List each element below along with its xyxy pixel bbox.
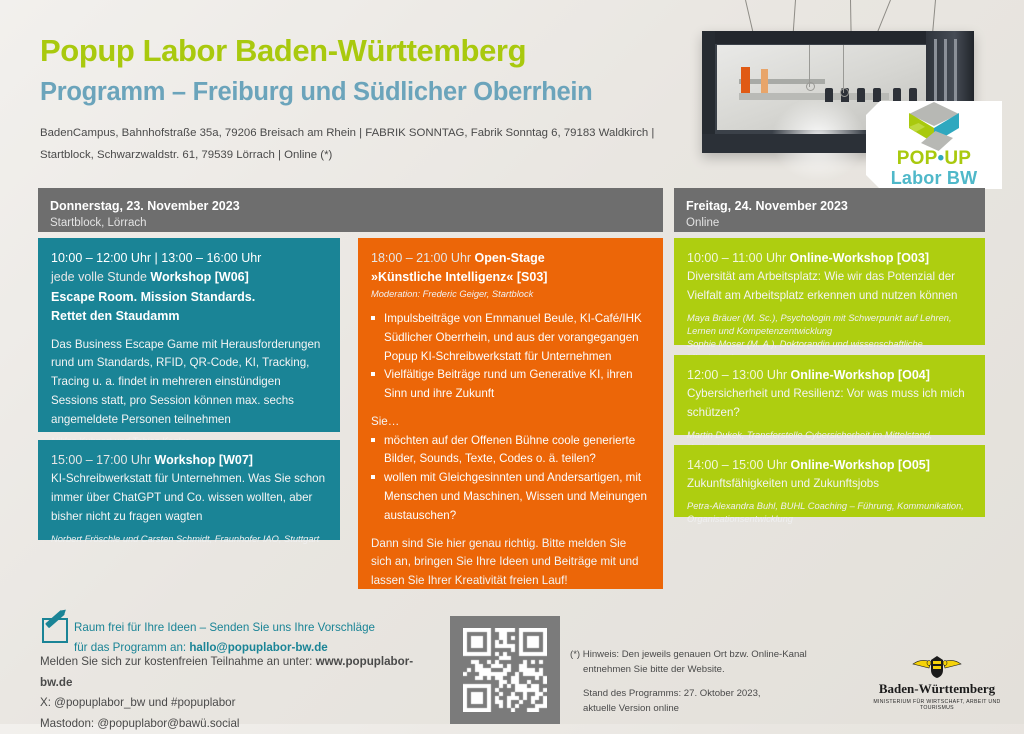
- logo-pop: POP: [897, 148, 938, 169]
- session-card-w06[interactable]: 10:00 – 12:00 Uhr | 13:00 – 16:00 Uhr je…: [38, 238, 340, 432]
- crest-icon: [907, 654, 967, 680]
- session-card-w07[interactable]: 15:00 – 17:00 Uhr Workshop [W07] KI-Schr…: [38, 440, 340, 540]
- contact-block: Melden Sie sich zur kostenfreien Teilnah…: [40, 652, 440, 734]
- session-closing: Dann sind Sie hier genau richtig. Bitte …: [371, 535, 650, 591]
- session-body: Cybersicherheit und Resilienz: Vor was m…: [687, 385, 972, 423]
- ministry-logo: Baden-Württemberg MINISTERIUM FÜR WIRTSC…: [862, 654, 1012, 711]
- session-body: Das Business Escape Game mit Herausforde…: [51, 336, 327, 430]
- popup-labor-logo: POP•UP Labor BW: [866, 101, 1002, 189]
- list-item: möchten auf der Offenen Bühne coole gene…: [371, 432, 650, 470]
- session-title-line-2: Rettet den Staudamm: [51, 307, 327, 326]
- session-body: Diversität am Arbeitsplatz: Wie wir das …: [687, 268, 972, 306]
- invite-line-1: Raum frei für Ihre Ideen – Senden Sie un…: [74, 618, 404, 638]
- session-time: 12:00 – 13:00 Uhr: [687, 368, 791, 382]
- session-speaker: Norbert Fröschle und Carsten Schmidt, Fr…: [51, 533, 327, 546]
- session-bullets-secondary: möchten auf der Offenen Bühne coole gene…: [371, 432, 650, 526]
- day-header-friday: Freitag, 24. November 2023 Online: [674, 188, 985, 232]
- session-label: Workshop [W07]: [155, 453, 253, 467]
- page-title: Popup Labor Baden-Württemberg: [40, 33, 526, 69]
- session-card-o03[interactable]: 10:00 – 11:00 Uhr Online-Workshop [O03] …: [674, 238, 985, 345]
- session-time: 15:00 – 17:00 Uhr: [51, 453, 155, 467]
- session-body: KI-Schreibwerkstatt für Unternehmen. Was…: [51, 470, 327, 526]
- session-speaker: Maya Bräuer (M. Sc.), Psychologin mit Sc…: [687, 312, 972, 325]
- session-card-s03[interactable]: 18:00 – 21:00 Uhr Open-Stage »Künstliche…: [358, 238, 663, 589]
- session-sie-intro: Sie…: [371, 413, 650, 432]
- hint-block: (*) Hinweis: Den jeweils genauen Ort bzw…: [570, 648, 820, 716]
- status-line-2: aktuelle Version online: [570, 702, 820, 717]
- day-location: Startblock, Lörrach: [50, 215, 651, 232]
- poster-root: Popup Labor Baden-Württemberg Programm –…: [0, 0, 1024, 724]
- session-label: Online-Workshop [O04]: [791, 368, 930, 382]
- day-date: Donnerstag, 23. November 2023: [50, 197, 651, 215]
- session-time: 18:00 – 21:00 Uhr: [371, 251, 475, 265]
- ministry-subtitle: MINISTERIUM FÜR WIRTSCHAFT, ARBEIT UND T…: [862, 699, 1012, 711]
- session-card-o05[interactable]: 14:00 – 15:00 Uhr Online-Workshop [O05] …: [674, 445, 985, 517]
- logo-line-2: Labor BW: [891, 168, 978, 189]
- session-time: 10:00 – 12:00 Uhr | 13:00 – 16:00 Uhr: [51, 249, 327, 268]
- session-label: Online-Workshop [O03]: [790, 251, 929, 265]
- session-speaker-cont: Organisationsentwicklung: [687, 513, 972, 526]
- cube-icon: [907, 101, 961, 147]
- status-line-1: Stand des Programms: 27. Oktober 2023,: [570, 687, 820, 702]
- session-label: Online-Workshop [O05]: [791, 458, 930, 472]
- day-header-thursday: Donnerstag, 23. November 2023 Startblock…: [38, 188, 663, 232]
- ministry-name: Baden-Württemberg: [862, 682, 1012, 696]
- page-subtitle: Programm – Freiburg und Südlicher Oberrh…: [40, 78, 592, 107]
- session-time-note: jede volle Stunde: [51, 270, 150, 284]
- logo-line-1: POP•UP: [897, 149, 971, 168]
- list-item: Impulsbeiträge von Emmanuel Beule, KI-Ca…: [371, 310, 650, 366]
- list-item: Vielfältige Beiträge rund um Generative …: [371, 366, 650, 404]
- list-item: wollen mit Gleichgesinnten und Andersart…: [371, 469, 650, 525]
- session-speaker-cont: Lernen und Kompetenzentwicklung: [687, 325, 972, 338]
- session-title-line-1: Escape Room. Mission Standards.: [51, 288, 327, 307]
- session-body: Zukunftsfähigkeiten und Zukunftsjobs: [687, 475, 972, 494]
- register-line: Melden Sie sich zur kostenfreien Teilnah…: [40, 652, 440, 693]
- session-card-o04[interactable]: 12:00 – 13:00 Uhr Online-Workshop [O04] …: [674, 355, 985, 435]
- session-label: Open-Stage: [475, 251, 545, 265]
- session-time: 14:00 – 15:00 Uhr: [687, 458, 791, 472]
- session-title: »Künstliche Intelligenz« [S03]: [371, 268, 650, 287]
- x-handle-line: X: @popuplabor_bw und #popuplabor: [40, 693, 440, 714]
- session-time: 10:00 – 11:00 Uhr: [687, 251, 790, 265]
- session-speaker: Petra-Alexandra Buhl, BUHL Coaching – Fü…: [687, 500, 972, 513]
- qr-code[interactable]: [450, 616, 560, 724]
- session-bullets-primary: Impulsbeiträge von Emmanuel Beule, KI-Ca…: [371, 310, 650, 404]
- hint-line-1: (*) Hinweis: Den jeweils genauen Ort bzw…: [570, 648, 820, 663]
- register-prefix: Melden Sie sich zur kostenfreien Teilnah…: [40, 655, 316, 668]
- venues-list: BadenCampus, Bahnhofstraße 35a, 79206 Br…: [40, 122, 690, 166]
- day-location: Online: [686, 215, 973, 232]
- session-label: Workshop [W06]: [150, 270, 248, 284]
- venues-line-1: BadenCampus, Bahnhofstraße 35a, 79206 Br…: [40, 122, 690, 144]
- day-date: Freitag, 24. November 2023: [686, 197, 973, 215]
- session-moderation: Moderation: Frederic Geiger, Startblock: [371, 288, 650, 301]
- hint-line-2: entnehmen Sie bitte der Website.: [570, 663, 820, 678]
- edit-pencil-icon: [42, 618, 68, 643]
- logo-up: UP: [944, 148, 971, 169]
- venues-line-2: Startblock, Schwarzwaldstr. 61, 79539 Lö…: [40, 144, 690, 166]
